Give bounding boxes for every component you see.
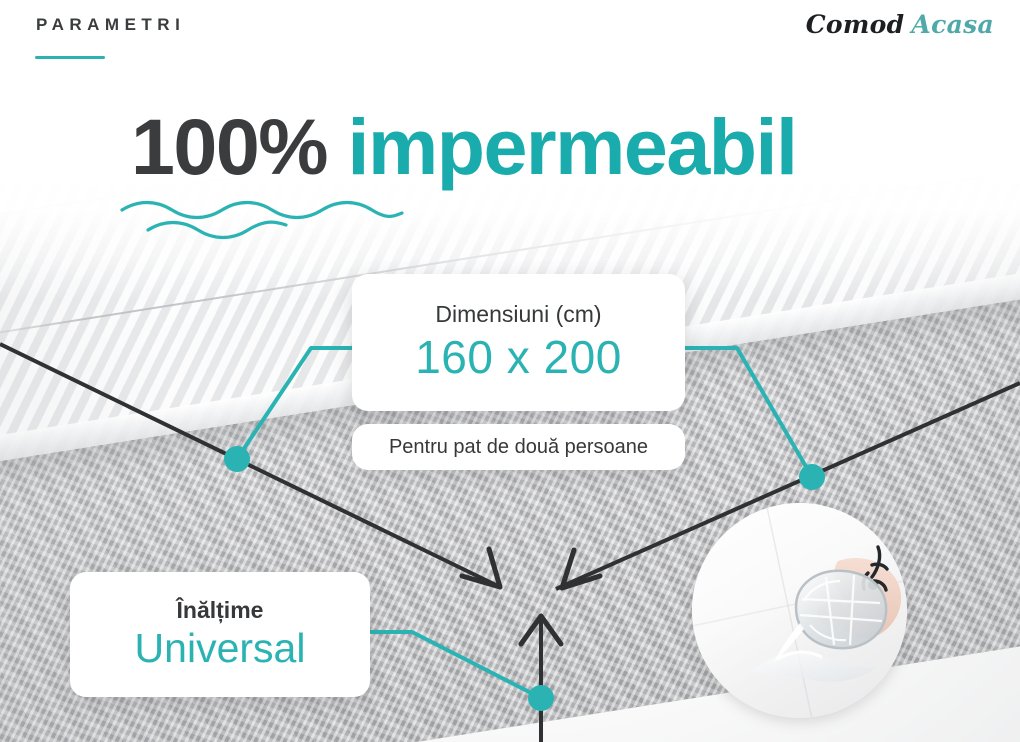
height-value: Universal [135, 625, 306, 672]
connector-line-height [368, 632, 541, 698]
water-pour-illustration [692, 503, 907, 718]
water-test-photo [692, 503, 907, 718]
connector-dot-icon [799, 464, 825, 490]
dimensions-value: 160 x 200 [415, 330, 622, 384]
connector-line-left [237, 348, 360, 459]
dimensions-label: Dimensiuni (cm) [435, 301, 601, 328]
connector-dot-icon [224, 446, 250, 472]
infographic-canvas: PARAMETRI ComodAcasa 100% impermeabil [0, 0, 1020, 742]
height-card: Înălțime Universal [70, 572, 370, 697]
height-label: Înălțime [177, 597, 264, 624]
connector-line-right [678, 348, 812, 477]
dimensions-card: Dimensiuni (cm) 160 x 200 [352, 274, 685, 411]
bed-type-card: Pentru pat de două persoane [352, 424, 685, 470]
arrow-right-icon [462, 549, 500, 587]
bed-type-text: Pentru pat de două persoane [389, 436, 648, 459]
connector-dot-icon [528, 685, 554, 711]
